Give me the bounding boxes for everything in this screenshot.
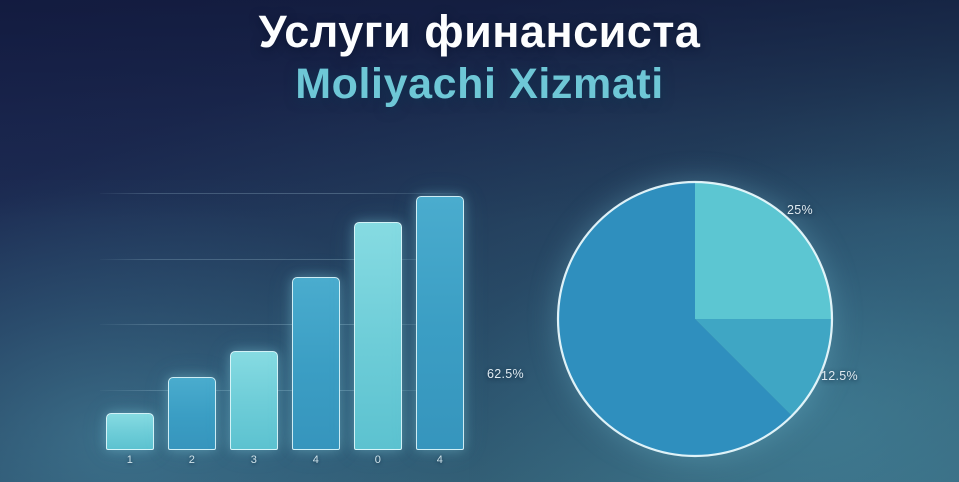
- page-title-ru: Услуги финансиста: [0, 8, 959, 57]
- x-axis-label-6: 4: [416, 454, 464, 466]
- page-title-uz: Moliyachi Xizmati: [0, 60, 959, 108]
- x-axis-label-1: 1: [106, 454, 154, 466]
- x-axis-label-4: 4: [292, 454, 340, 466]
- bar-chart-x-axis-labels: 123404: [96, 454, 468, 476]
- infographic-slide: Услуги финансиста Moliyachi Xizmati 1234…: [0, 0, 959, 482]
- pie-label-slice-2: 12.5%: [821, 369, 858, 383]
- bar-5[interactable]: [354, 222, 402, 450]
- pie-chart: 25% 12.5% 62.5%: [553, 177, 837, 461]
- x-axis-label-2: 2: [168, 454, 216, 466]
- bar-6[interactable]: [416, 196, 464, 450]
- bar-2[interactable]: [168, 377, 216, 450]
- x-axis-label-3: 3: [230, 454, 278, 466]
- x-axis-label-5: 0: [354, 454, 402, 466]
- bar-chart: 123404: [96, 162, 468, 462]
- bar-4[interactable]: [292, 277, 340, 450]
- bar-3[interactable]: [230, 351, 278, 450]
- bar-chart-bars: [96, 162, 468, 450]
- pie-chart-svg: [553, 177, 837, 461]
- pie-label-slice-1: 25%: [787, 203, 813, 217]
- title-block: Услуги финансиста Moliyachi Xizmati: [0, 8, 959, 108]
- pie-label-slice-3: 62.5%: [487, 367, 524, 381]
- bar-1[interactable]: [106, 413, 154, 450]
